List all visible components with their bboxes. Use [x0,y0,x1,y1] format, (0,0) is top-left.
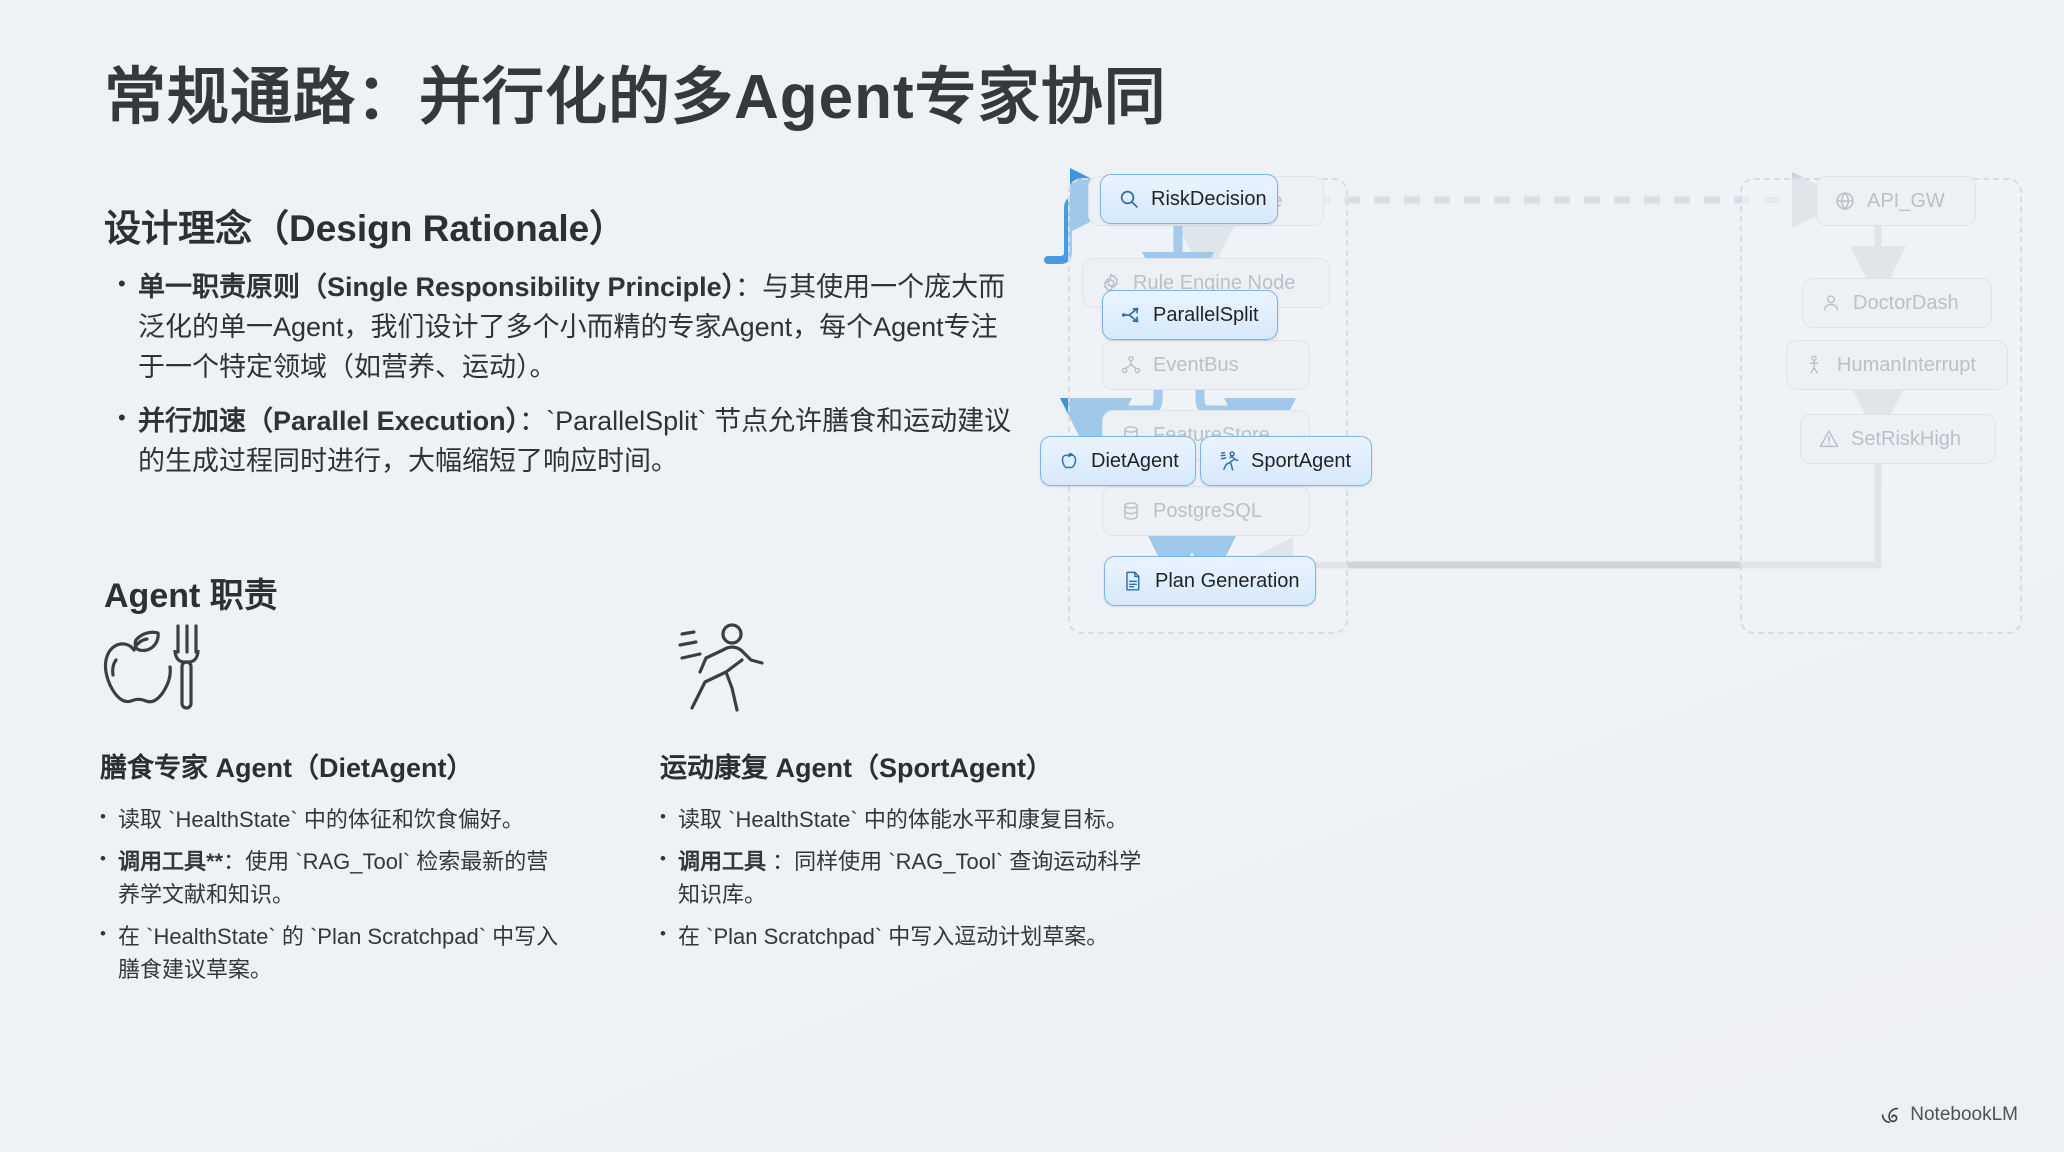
list-item-text: 读取 `HealthState` 中的体征和饮食偏好。 [118,803,570,836]
agent-duty-list-sport: •读取 `HealthState` 中的体能水平和康复目标。 •调用工具 ：同样… [660,803,1160,953]
diagram-node-label: SportAgent [1251,450,1351,473]
runner-icon [1217,449,1241,473]
list-item-text: 在 `Plan Scratchpad` 中写入逗动计划草案。 [678,920,1160,953]
diagram-node-parallelsplit[interactable]: ParallelSplit [1102,290,1278,340]
bullet-text: 单一职责原则（Single Responsibility Principle）：… [138,268,1018,388]
diagram-node-label: PostgreSQL [1153,500,1262,523]
list-item-rest: 读取 `HealthState` 中的体能水平和康复目标。 [678,807,1128,832]
agent-title-diet: 膳食专家 Agent（DietAgent） [100,746,570,785]
list-item-strong: 调用工具** [118,849,223,874]
diagram-node-eventbus[interactable]: EventBus [1102,340,1310,390]
diagram-node-humaninterrupt[interactable]: HumanInterrupt [1786,340,2008,390]
bullet-marker: • [660,845,678,873]
list-item-text: 在 `HealthState` 的 `Plan Scratchpad` 中写入膳… [118,920,570,986]
globe-icon [1833,189,1857,213]
list-item-text: 读取 `HealthState` 中的体能水平和康复目标。 [678,803,1160,836]
rationale-bullet-item: • 单一职责原则（Single Responsibility Principle… [118,268,1018,388]
diagram-node-label: DietAgent [1091,450,1179,473]
apple-fork-icon [100,620,570,716]
agent-duty-list-diet: •读取 `HealthState` 中的体征和饮食偏好。 •调用工具**：使用 … [100,803,570,986]
list-item-text: 调用工具**：使用 `RAG_Tool` 检索最新的营养学文献和知识。 [118,845,570,911]
network-icon [1119,353,1143,377]
diagram-node-label: EventBus [1153,354,1239,377]
bullet-marker: • [660,920,678,948]
list-item-strong: 调用工具 [678,849,772,874]
page-title: 常规通路：并行化的多Agent专家协同 [104,46,1167,136]
rationale-bullet-item: • 并行加速（Parallel Execution）：`ParallelSpli… [118,402,1018,482]
document-icon [1121,569,1145,593]
warning-icon [1817,427,1841,451]
bullet-strong: 并行加速（Parallel Execution） [138,406,519,436]
footer-brand-label: NotebookLM [1910,1104,2018,1126]
footer-brand: NotebookLM [1879,1104,2018,1126]
list-item-rest: 在 `Plan Scratchpad` 中写入逗动计划草案。 [678,924,1108,949]
list-item-rest: 在 `HealthState` 的 `Plan Scratchpad` 中写入膳… [118,924,558,982]
search-icon [1117,187,1141,211]
list-item: •读取 `HealthState` 中的体能水平和康复目标。 [660,803,1160,836]
bullet-strong: 单一职责原则（Single Responsibility Principle） [138,272,735,302]
bullet-marker: • [100,845,118,873]
diagram-node-label: DoctorDash [1853,292,1959,315]
diagram-node-postgresql[interactable]: PostgreSQL [1102,486,1310,536]
slide-canvas: 常规通路：并行化的多Agent专家协同 设计理念（Design Rational… [0,0,2064,1152]
architecture-diagram: PerceptionNode Rule Engine Node EventBus… [1060,178,2010,778]
diagram-group-right [1740,178,2022,634]
bullet-marker: • [118,268,138,301]
bullet-marker: • [100,920,118,948]
diagram-node-label: ParallelSplit [1153,304,1259,327]
database-icon [1119,499,1143,523]
agent-card-diet: 膳食专家 Agent（DietAgent） •读取 `HealthState` … [100,620,570,995]
list-item-rest: 读取 `HealthState` 中的体征和饮食偏好。 [118,807,524,832]
bullet-marker: • [118,402,138,435]
notebooklm-icon [1879,1104,1901,1126]
list-item: •在 `HealthState` 的 `Plan Scratchpad` 中写入… [100,920,570,986]
bullet-marker: • [100,803,118,831]
share-icon [1119,303,1143,327]
apple-icon [1057,449,1081,473]
diagram-node-setriskhigh[interactable]: SetRiskHigh [1800,414,1996,464]
diagram-node-label: HumanInterrupt [1837,354,1976,377]
bullet-marker: • [660,803,678,831]
human-icon [1803,353,1827,377]
diagram-node-sportagent[interactable]: SportAgent [1200,436,1372,486]
person-icon [1819,291,1843,315]
list-item: •读取 `HealthState` 中的体征和饮食偏好。 [100,803,570,836]
list-item-text: 调用工具 ：同样使用 `RAG_Tool` 查询运动科学知识库。 [678,845,1160,911]
diagram-node-label: Plan Generation [1155,570,1300,593]
list-item: •在 `Plan Scratchpad` 中写入逗动计划草案。 [660,920,1160,953]
list-item: •调用工具 ：同样使用 `RAG_Tool` 查询运动科学知识库。 [660,845,1160,911]
section-heading-rationale: 设计理念（Design Rationale） [104,198,626,252]
diagram-node-riskdecision[interactable]: RiskDecision [1100,174,1278,224]
section-heading-duties: Agent 职责 [104,568,278,617]
diagram-node-label: API_GW [1867,190,1945,213]
diagram-node-doctordash[interactable]: DoctorDash [1802,278,1992,328]
diagram-node-label: SetRiskHigh [1851,428,1961,451]
list-item: •调用工具**：使用 `RAG_Tool` 检索最新的营养学文献和知识。 [100,845,570,911]
rationale-bullet-list: • 单一职责原则（Single Responsibility Principle… [118,268,1018,490]
bullet-text: 并行加速（Parallel Execution）：`ParallelSplit`… [138,402,1018,482]
diagram-node-api-gw[interactable]: API_GW [1816,176,1976,226]
diagram-node-label: RiskDecision [1151,188,1267,211]
diagram-node-plangeneration[interactable]: Plan Generation [1104,556,1316,606]
diagram-node-dietagent[interactable]: DietAgent [1040,436,1196,486]
